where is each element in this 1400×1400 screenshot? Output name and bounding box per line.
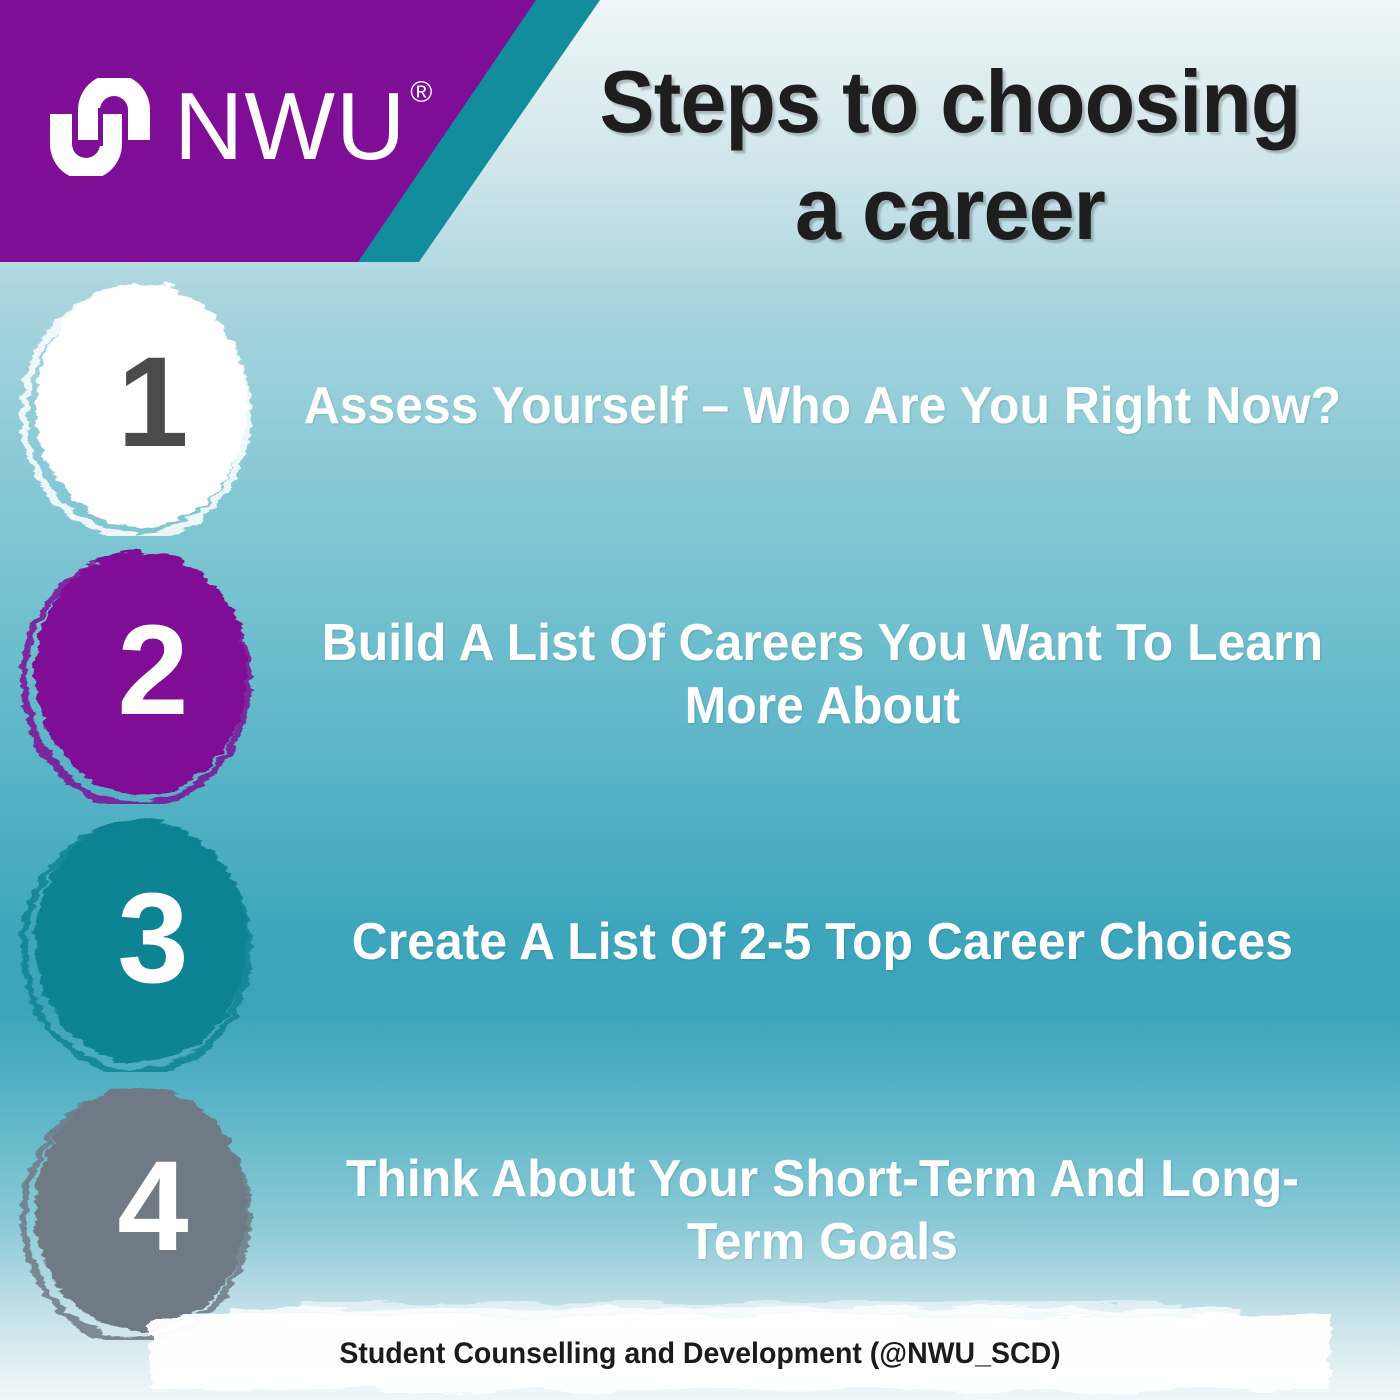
step-3-number-badge: 3 [18,814,264,1072]
page-title: Steps to choosing a career [555,48,1345,263]
step-3-text: Create A List Of 2-5 Top Career Choices [287,911,1378,974]
step-2-text: Build A List Of Careers You Want To Lear… [287,612,1378,739]
step-4-text: Think About Your Short-Term And Long-Ter… [287,1148,1378,1275]
nwu-logo: NWU® [48,72,433,182]
page-title-line-1: Steps to choosing [555,48,1345,155]
step-1-text: Assess Yourself – Who Are You Right Now? [287,375,1378,438]
step-item-3: 3 Create A List Of 2-5 Top Career Choice… [0,808,1400,1078]
page-title-line-2: a career [555,155,1345,262]
nwu-wordmark: NWU® [174,79,433,175]
step-4-number: 4 [117,1143,188,1271]
footer-credit: Student Counselling and Development (@NW… [35,1337,1365,1371]
nwu-interlocking-link-logo-icon [48,78,152,176]
step-1-number-badge: 1 [18,278,264,536]
step-2-number: 2 [117,607,188,735]
registered-trademark-icon: ® [410,76,433,109]
step-1-number: 1 [117,339,188,467]
step-item-1: 1 Assess Yourself – Who Are You Right No… [0,272,1400,542]
step-3-number: 3 [117,875,188,1003]
career-steps-infographic: NWU® Steps to choosing a career [0,0,1400,1400]
step-item-2: 2 Build A List Of Careers You Want To Le… [0,540,1400,810]
step-2-number-badge: 2 [18,546,264,804]
